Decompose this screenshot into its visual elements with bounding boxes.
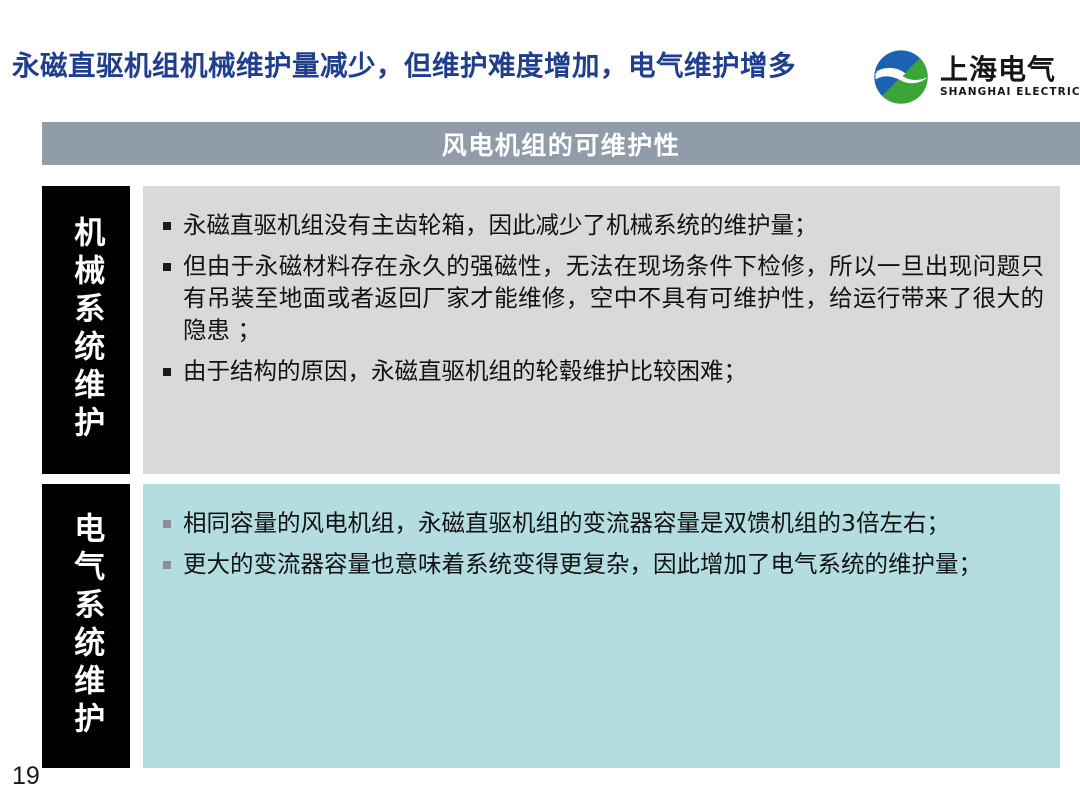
section-label-mechanical: 机械系统维护	[42, 186, 130, 474]
section-electrical-maintenance: 电气系统维护 相同容量的风电机组，永磁直驱机组的变流器容量是双馈机组的3倍左右；…	[42, 484, 1060, 768]
list-item: 更大的变流器容量也意味着系统变得更复杂，因此增加了电气系统的维护量；	[161, 549, 1044, 581]
logo-name-cn: 上海电气	[940, 56, 1080, 84]
list-item: 相同容量的风电机组，永磁直驱机组的变流器容量是双馈机组的3倍左右；	[161, 508, 1044, 540]
list-item: 由于结构的原因，永磁直驱机组的轮毂维护比较困难；	[161, 356, 1044, 388]
list-item: 但由于永磁材料存在永久的强磁性，无法在现场条件下检修，所以一旦出现问题只有吊装至…	[161, 251, 1044, 347]
section-mechanical-maintenance: 机械系统维护 永磁直驱机组没有主齿轮箱，因此减少了机械系统的维护量； 但由于永磁…	[42, 186, 1060, 474]
list-item: 永磁直驱机组没有主齿轮箱，因此减少了机械系统的维护量；	[161, 210, 1044, 242]
section-label-electrical: 电气系统维护	[42, 484, 130, 768]
section-header-bar: 风电机组的可维护性	[42, 122, 1080, 165]
page-title: 永磁直驱机组机械维护量减少，但维护难度增加，电气维护增多	[12, 50, 862, 83]
shanghai-electric-mark-icon	[872, 48, 930, 106]
company-logo: 上海电气 SHANGHAI ELECTRIC	[872, 46, 1072, 108]
section-label-mechanical-text: 机械系统维护	[70, 216, 103, 444]
bullet-list-mechanical: 永磁直驱机组没有主齿轮箱，因此减少了机械系统的维护量； 但由于永磁材料存在永久的…	[161, 210, 1044, 388]
page-number: 19	[12, 762, 40, 791]
section-header-title: 风电机组的可维护性	[442, 126, 681, 162]
section-label-electrical-text: 电气系统维护	[70, 512, 103, 740]
section-panel-mechanical: 永磁直驱机组没有主齿轮箱，因此减少了机械系统的维护量； 但由于永磁材料存在永久的…	[143, 186, 1060, 474]
logo-name-en: SHANGHAI ELECTRIC	[940, 87, 1080, 98]
bullet-list-electrical: 相同容量的风电机组，永磁直驱机组的变流器容量是双馈机组的3倍左右； 更大的变流器…	[161, 508, 1044, 581]
section-panel-electrical: 相同容量的风电机组，永磁直驱机组的变流器容量是双馈机组的3倍左右； 更大的变流器…	[143, 484, 1060, 768]
